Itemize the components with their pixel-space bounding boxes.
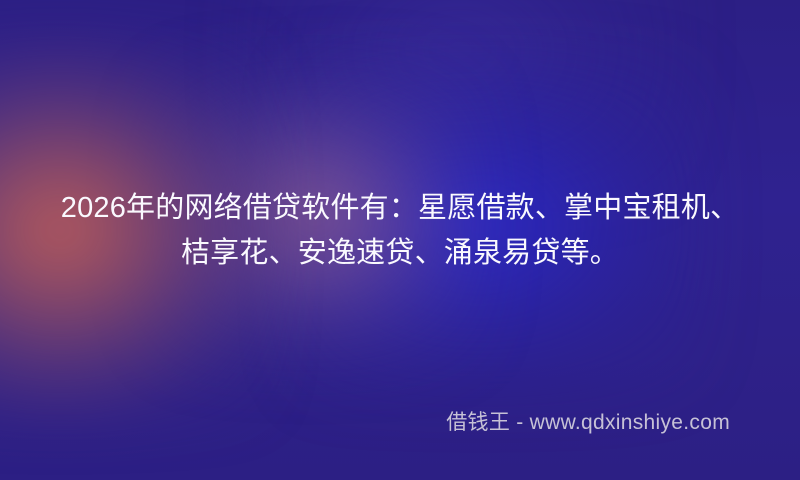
site-watermark: 借钱王 - www.qdxinshiye.com bbox=[0, 406, 730, 436]
promotional-banner: 2026年的网络借贷软件有：星愿借款、掌中宝租机、桔享花、安逸速贷、涌泉易贷等。… bbox=[0, 0, 800, 480]
banner-headline: 2026年的网络借贷软件有：星愿借款、掌中宝租机、桔享花、安逸速贷、涌泉易贷等。 bbox=[50, 186, 750, 276]
